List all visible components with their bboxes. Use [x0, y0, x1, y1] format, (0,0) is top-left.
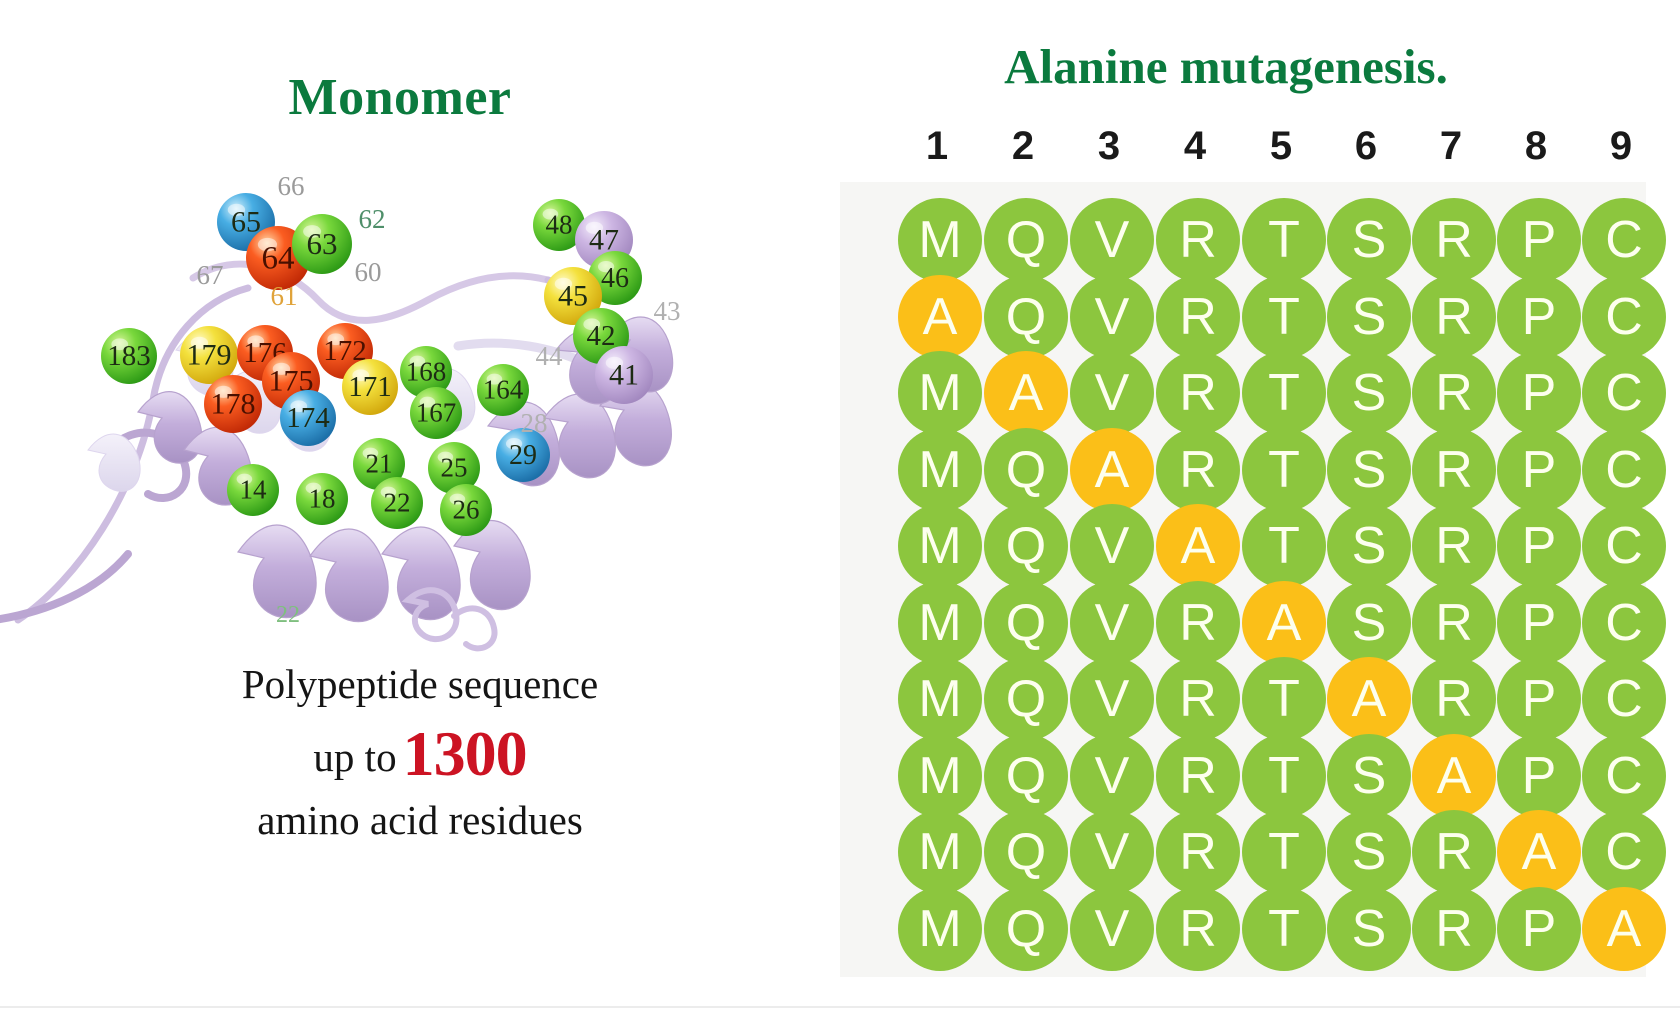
column-header-5: 5 — [1256, 124, 1306, 169]
column-header-2: 2 — [998, 124, 1048, 169]
residue-cell-wildtype: P — [1497, 581, 1581, 665]
column-header-3: 3 — [1084, 124, 1134, 169]
residue-cell-wildtype: Q — [984, 657, 1068, 741]
residue-cell-wildtype: S — [1327, 581, 1411, 665]
protein-structure-figure: 6564631831791761721751781711741681671641… — [0, 150, 728, 670]
residue-cell-wildtype: M — [898, 198, 982, 282]
residue-cell-wildtype: S — [1327, 887, 1411, 971]
residue-cell-wildtype: R — [1156, 351, 1240, 435]
residue-sphere-183: 183 — [101, 328, 157, 384]
column-header-7: 7 — [1426, 124, 1476, 169]
residue-cell-wildtype: P — [1497, 198, 1581, 282]
structure-text-label-66: 66 — [278, 171, 305, 201]
residue-sphere-171: 171 — [342, 359, 398, 415]
residue-cell-wildtype: R — [1412, 581, 1496, 665]
residue-sphere-label: 42 — [587, 320, 616, 352]
residue-sphere-label: 168 — [406, 357, 447, 387]
residue-cell-wildtype: C — [1582, 657, 1666, 741]
residue-cell-wildtype: M — [898, 428, 982, 512]
residue-cell-wildtype: P — [1497, 504, 1581, 588]
residue-sphere-label: 21 — [366, 449, 393, 479]
residue-cell-wildtype: R — [1156, 428, 1240, 512]
residue-cell-wildtype: S — [1327, 428, 1411, 512]
residue-cell-wildtype: V — [1070, 657, 1154, 741]
residue-sphere-label: 167 — [416, 398, 457, 428]
residue-cell-mutated: A — [1070, 428, 1154, 512]
residue-cell-wildtype: R — [1412, 810, 1496, 894]
residue-cell-wildtype: R — [1156, 887, 1240, 971]
residue-sphere-label: 174 — [286, 402, 330, 434]
residue-cell-wildtype: Q — [984, 428, 1068, 512]
residue-cell-wildtype: T — [1242, 810, 1326, 894]
residue-cell-wildtype: P — [1497, 275, 1581, 359]
residue-cell-wildtype: C — [1582, 351, 1666, 435]
residue-sphere-label: 48 — [546, 210, 573, 240]
residue-sphere-label: 164 — [483, 375, 524, 405]
residue-cell-wildtype: R — [1412, 887, 1496, 971]
residue-cell-wildtype: V — [1070, 504, 1154, 588]
residue-sphere-22: 22 — [371, 477, 423, 529]
column-header-8: 8 — [1511, 124, 1561, 169]
residue-cell-wildtype: C — [1582, 810, 1666, 894]
residue-sphere-label: 14 — [240, 475, 268, 505]
residue-sphere-label: 171 — [348, 371, 392, 403]
residue-cell-wildtype: P — [1497, 887, 1581, 971]
residue-cell-wildtype: V — [1070, 734, 1154, 818]
residue-cell-wildtype: M — [898, 734, 982, 818]
residue-cell-wildtype: S — [1327, 198, 1411, 282]
structure-text-label-28: 28 — [521, 408, 548, 438]
residue-cell-wildtype: Q — [984, 275, 1068, 359]
residue-cell-wildtype: T — [1242, 657, 1326, 741]
caption-line-1: Polypeptide sequence — [140, 660, 700, 708]
column-header-4: 4 — [1170, 124, 1220, 169]
residue-count-value: 1300 — [403, 718, 527, 789]
residue-cell-wildtype: R — [1412, 504, 1496, 588]
residue-cell-wildtype: P — [1497, 657, 1581, 741]
residue-cell-wildtype: M — [898, 887, 982, 971]
structure-text-label-61: 61 — [271, 281, 298, 311]
residue-cell-wildtype: V — [1070, 275, 1154, 359]
mutagenesis-title: Alanine mutagenesis. — [836, 38, 1616, 95]
column-header-6: 6 — [1341, 124, 1391, 169]
structure-text-label-62: 62 — [359, 204, 386, 234]
residue-cell-wildtype: S — [1327, 351, 1411, 435]
residue-cell-mutated: A — [1327, 657, 1411, 741]
residue-cell-wildtype: M — [898, 351, 982, 435]
residue-cell-wildtype: V — [1070, 198, 1154, 282]
bottom-divider — [0, 1006, 1680, 1008]
residue-cell-wildtype: V — [1070, 581, 1154, 665]
residue-sphere-26: 26 — [440, 484, 492, 536]
structure-text-label-22: 22 — [276, 602, 300, 628]
residue-cell-wildtype: S — [1327, 504, 1411, 588]
residue-cell-wildtype: M — [898, 504, 982, 588]
residue-sphere-label: 25 — [441, 453, 468, 483]
residue-sphere-63: 63 — [292, 214, 352, 274]
residue-cell-mutated: A — [1497, 810, 1581, 894]
residue-cell-wildtype: Q — [984, 887, 1068, 971]
residue-cell-wildtype: T — [1242, 428, 1326, 512]
monomer-panel: Monomer — [0, 0, 800, 1010]
mutagenesis-grid: MQVRTSRPCAQVRTSRPCMAVRTSRPCMQARTSRPCMQVA… — [840, 182, 1646, 977]
figure-canvas: Monomer — [0, 0, 1680, 1010]
residue-sphere-label: 65 — [231, 206, 261, 239]
residue-sphere-167: 167 — [410, 387, 462, 439]
column-header-1: 1 — [912, 124, 962, 169]
residue-cell-mutated: A — [1412, 734, 1496, 818]
residue-cell-wildtype: M — [898, 657, 982, 741]
residue-cell-wildtype: Q — [984, 504, 1068, 588]
residue-cell-mutated: A — [1156, 504, 1240, 588]
residue-sphere-label: 45 — [558, 280, 588, 313]
residue-sphere-label: 22 — [384, 488, 411, 518]
caption-block: Polypeptide sequence up to1300 amino aci… — [140, 660, 700, 846]
residue-cell-wildtype: R — [1412, 198, 1496, 282]
residue-cell-wildtype: M — [898, 810, 982, 894]
structure-text-label-43: 43 — [654, 296, 681, 326]
residue-sphere-178: 178 — [204, 375, 262, 433]
residue-cell-wildtype: V — [1070, 351, 1154, 435]
residue-sphere-label: 183 — [107, 340, 151, 372]
residue-cell-mutated: A — [1242, 581, 1326, 665]
residue-cell-wildtype: C — [1582, 198, 1666, 282]
residue-cell-wildtype: V — [1070, 887, 1154, 971]
residue-sphere-label: 26 — [453, 495, 480, 525]
residue-cell-wildtype: C — [1582, 734, 1666, 818]
residue-sphere-label: 64 — [262, 241, 295, 277]
column-header-row: 123456789 — [840, 124, 1646, 172]
structure-text-label-44: 44 — [536, 341, 564, 371]
residue-cell-wildtype: S — [1327, 275, 1411, 359]
residue-sphere-41: 41 — [595, 346, 653, 404]
residue-cell-wildtype: S — [1327, 734, 1411, 818]
residue-cell-wildtype: C — [1582, 275, 1666, 359]
residue-sphere-18: 18 — [296, 473, 348, 525]
residue-cell-wildtype: R — [1156, 810, 1240, 894]
residue-cell-wildtype: T — [1242, 198, 1326, 282]
residue-sphere-label: 46 — [601, 263, 629, 294]
column-header-9: 9 — [1596, 124, 1646, 169]
residue-cell-wildtype: Q — [984, 810, 1068, 894]
structure-text-label-67: 67 — [197, 260, 224, 290]
residue-cell-wildtype: R — [1156, 198, 1240, 282]
residue-sphere-14: 14 — [227, 464, 279, 516]
residue-sphere-label: 18 — [309, 484, 336, 514]
residue-cell-wildtype: V — [1070, 810, 1154, 894]
residue-cell-wildtype: M — [898, 581, 982, 665]
residue-sphere-label: 63 — [307, 226, 338, 261]
residue-cell-wildtype: C — [1582, 581, 1666, 665]
residue-cell-wildtype: R — [1156, 657, 1240, 741]
caption-line-3: amino acid residues — [140, 796, 700, 845]
mutagenesis-grid-panel: MQVRTSRPCAQVRTSRPCMAVRTSRPCMQARTSRPCMQVA… — [840, 182, 1646, 977]
residue-cell-wildtype: T — [1242, 887, 1326, 971]
caption-line-2: up to1300 — [140, 714, 700, 794]
residue-sphere-label: 178 — [211, 388, 256, 421]
residue-cell-mutated: A — [898, 275, 982, 359]
residue-cell-wildtype: R — [1412, 275, 1496, 359]
residue-cell-wildtype: T — [1242, 734, 1326, 818]
residue-cell-wildtype: S — [1327, 810, 1411, 894]
residue-cell-wildtype: C — [1582, 504, 1666, 588]
caption-upto-text: up to — [313, 734, 396, 780]
residue-cell-wildtype: R — [1156, 581, 1240, 665]
residue-cell-wildtype: Q — [984, 734, 1068, 818]
residue-cell-wildtype: R — [1156, 275, 1240, 359]
residue-sphere-label: 29 — [509, 440, 537, 471]
residue-cell-wildtype: T — [1242, 275, 1326, 359]
structure-text-label-60: 60 — [355, 257, 382, 287]
residue-sphere-174: 174 — [280, 390, 336, 446]
residue-cell-wildtype: Q — [984, 198, 1068, 282]
residue-sphere-label: 41 — [609, 359, 639, 392]
residue-cell-wildtype: P — [1497, 351, 1581, 435]
residue-cell-wildtype: R — [1156, 734, 1240, 818]
residue-cell-wildtype: Q — [984, 581, 1068, 665]
residue-cell-wildtype: T — [1242, 504, 1326, 588]
residue-cell-wildtype: T — [1242, 351, 1326, 435]
residue-cell-wildtype: C — [1582, 428, 1666, 512]
residue-sphere-label: 179 — [187, 339, 232, 372]
residue-cell-wildtype: P — [1497, 734, 1581, 818]
residue-cell-wildtype: P — [1497, 428, 1581, 512]
residue-cell-mutated: A — [1582, 887, 1666, 971]
residue-cell-wildtype: R — [1412, 657, 1496, 741]
residue-cell-wildtype: R — [1412, 428, 1496, 512]
residue-cell-mutated: A — [984, 351, 1068, 435]
page-title: Monomer — [250, 68, 550, 127]
residue-cell-wildtype: R — [1412, 351, 1496, 435]
